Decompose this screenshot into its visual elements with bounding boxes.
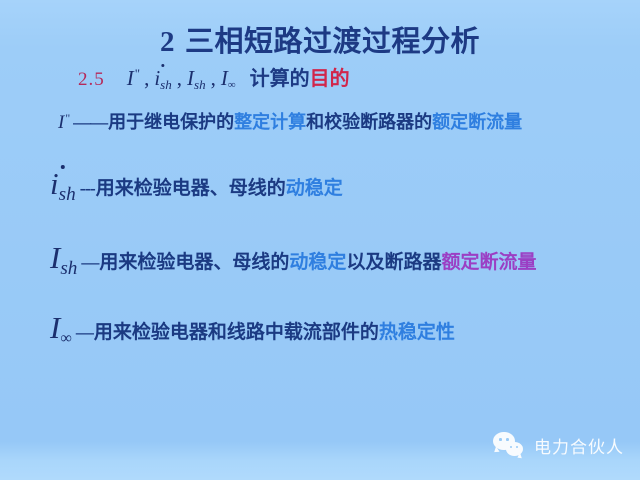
watermark: 电力合伙人 (493, 432, 624, 458)
subtitle-line: 2.5 I",ish,Ish,I∞ 计算的目的 (78, 62, 350, 91)
line-text: 用来检验电器、母线的动稳定以及断路器额定断流量 (99, 247, 536, 274)
wechat-eye (499, 438, 502, 441)
subtitle-tail-normal: 计算的 (250, 68, 310, 90)
symbol-i-sh: ish (154, 66, 171, 91)
line-dash: — (81, 252, 98, 273)
watermark-label: 电力合伙人 (534, 433, 624, 458)
title-number: 2 (160, 26, 175, 58)
line-text: 用于继电保护的整定计算和校验断路器的额定断流量 (108, 108, 522, 134)
symbol-i-infinity: I∞ (50, 310, 72, 346)
symbol-i-double-prime: I" (127, 66, 139, 91)
line-dash: —— (73, 112, 107, 133)
text-segment-highlight: 热稳定性 (379, 322, 455, 343)
line-text: 用来检验电器、母线的动稳定 (96, 173, 343, 200)
text-segment: 用来检验电器、母线的 (99, 252, 289, 273)
wechat-bubble-small (506, 442, 523, 456)
line-text: 用来检验电器和线路中载流部件的热稳定性 (94, 317, 455, 344)
page-title: 2三相短路过渡过程分析 (0, 18, 640, 60)
body-line-1: I" —— 用于继电保护的整定计算和校验断路器的额定断流量 (58, 108, 522, 134)
comma-separator: , (211, 66, 216, 90)
subtitle-symbol-group: I",ish,Ish,I∞ (127, 66, 236, 91)
symbol-i-infinity: I∞ (221, 66, 236, 91)
symbol-i-double-prime: I" (58, 112, 69, 134)
symbol-i-sh: ish (50, 166, 76, 202)
text-segment-highlight: 额定断流量 (441, 252, 536, 273)
text-segment-highlight: 动稳定 (289, 252, 346, 273)
body-line-3: Ish — 用来检验电器、母线的动稳定以及断路器额定断流量 (50, 240, 536, 276)
wechat-eye (506, 438, 509, 441)
text-segment: 用来检验电器和线路中载流部件的 (94, 322, 379, 343)
subtitle-tail: 计算的目的 (250, 62, 350, 91)
text-segment: 以及断路器 (346, 252, 441, 273)
text-segment-highlight: 动稳定 (286, 178, 343, 199)
wechat-icon (493, 432, 527, 458)
subtitle-tail-highlight: 目的 (310, 68, 350, 90)
body-line-4: I∞ — 用来检验电器和线路中载流部件的热稳定性 (50, 310, 455, 346)
line-dash: --- (80, 178, 95, 199)
text-segment: 用于继电保护的 (108, 112, 234, 132)
section-number: 2.5 (78, 69, 105, 91)
text-segment: 和校验断路器的 (306, 112, 432, 132)
body-line-2: ish --- 用来检验电器、母线的动稳定 (50, 166, 343, 202)
line-dash: — (76, 322, 93, 343)
symbol-cap-i-sh: Ish (187, 66, 206, 91)
wechat-eye (516, 446, 518, 448)
comma-separator: , (177, 66, 182, 90)
slide-canvas: 2三相短路过渡过程分析 2.5 I",ish,Ish,I∞ 计算的目的 I" —… (0, 0, 640, 480)
wechat-eye (510, 446, 512, 448)
comma-separator: , (144, 66, 149, 90)
symbol-cap-i-sh: Ish (50, 240, 77, 276)
text-segment-highlight: 整定计算 (234, 112, 306, 132)
text-segment-highlight: 额定断流量 (432, 112, 522, 132)
title-text: 三相短路过渡过程分析 (185, 26, 480, 58)
text-segment: 用来检验电器、母线的 (96, 178, 286, 199)
